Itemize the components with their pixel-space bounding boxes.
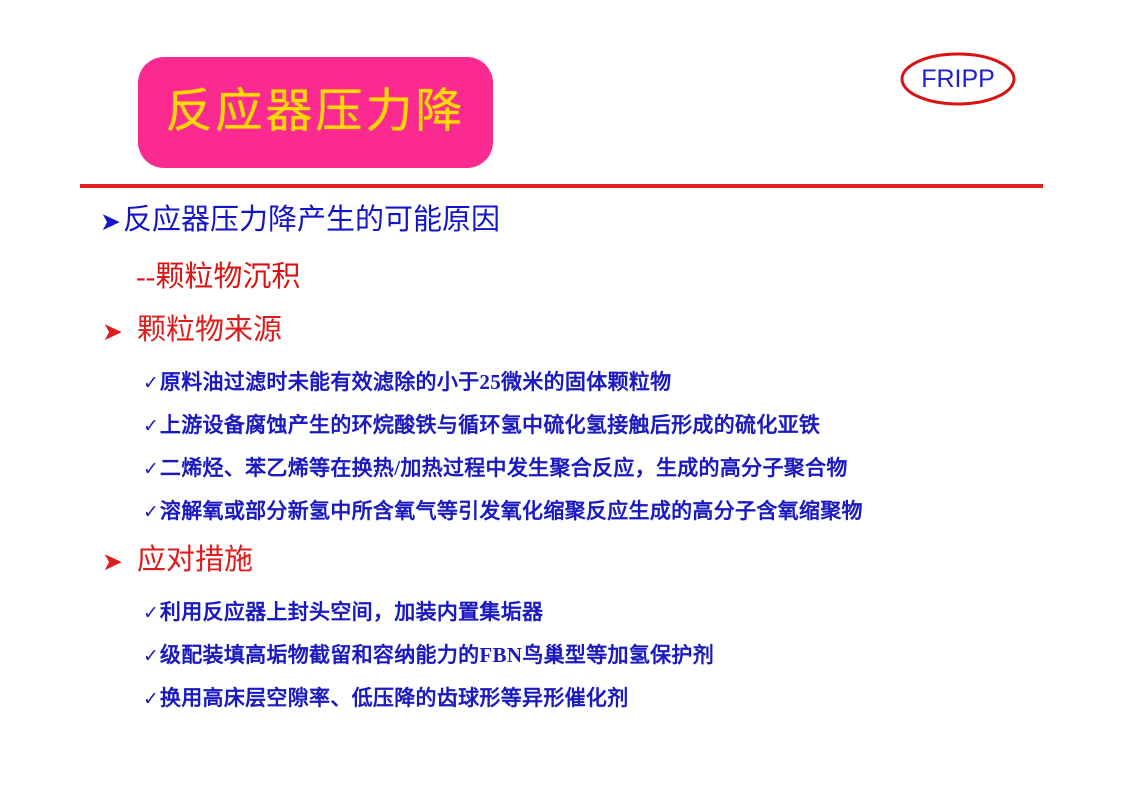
list-item-label: 换用高床层空隙率、低压降的齿球形等异形催化剂 — [160, 688, 629, 709]
arrow-right-icon: ➤ — [102, 319, 123, 344]
check-icon: ✓ — [143, 604, 159, 623]
list-item: ✓ 利用反应器上封头空间，加装内置集垢器 — [143, 602, 714, 645]
check-icon: ✓ — [143, 374, 159, 393]
bullet-particle-source: ➤ 颗粒物来源 — [102, 316, 282, 345]
bullet-particle-source-label: 颗粒物来源 — [137, 316, 282, 345]
list-item-label: 利用反应器上封头空间，加装内置集垢器 — [160, 602, 543, 623]
bullet-causes-label: 反应器压力降产生的可能原因 — [123, 206, 500, 235]
list-item: ✓ 溶解氧或部分新氢中所含氧气等引发氧化缩聚反应生成的高分子含氧缩聚物 — [143, 501, 863, 544]
arrow-right-icon: ➤ — [100, 209, 121, 234]
list-item-label: 原料油过滤时未能有效滤除的小于25微米的固体颗粒物 — [160, 372, 672, 393]
sub-note-sediment-label: --颗粒物沉积 — [136, 261, 300, 293]
ellipse-icon — [898, 49, 1018, 109]
bullet-causes: ➤ 反应器压力降产生的可能原因 — [100, 206, 500, 235]
check-icon: ✓ — [143, 417, 159, 436]
page-title: 反应器压力降 — [166, 89, 466, 136]
horizontal-divider — [80, 184, 1043, 188]
bullet-countermeasures: ➤ 应对措施 — [102, 546, 253, 575]
list-item-label: 上游设备腐蚀产生的环烷酸铁与循环氢中硫化氢接触后形成的硫化亚铁 — [160, 415, 820, 436]
check-icon: ✓ — [143, 460, 159, 479]
list-item: ✓ 二烯烃、苯乙烯等在换热/加热过程中发生聚合反应，生成的高分子聚合物 — [143, 458, 863, 501]
list-item: ✓ 级配装填高垢物截留和容纳能力的FBN鸟巢型等加氢保护剂 — [143, 645, 714, 688]
list-particle-source: ✓ 原料油过滤时未能有效滤除的小于25微米的固体颗粒物 ✓ 上游设备腐蚀产生的环… — [143, 372, 863, 544]
slide-canvas: 反应器压力降 FRIPP ➤ 反应器压力降产生的可能原因 --颗粒物沉积 ➤ 颗… — [0, 0, 1122, 793]
fripp-logo: FRIPP — [898, 49, 1018, 109]
check-icon: ✓ — [143, 690, 159, 709]
list-countermeasures: ✓ 利用反应器上封头空间，加装内置集垢器 ✓ 级配装填高垢物截留和容纳能力的FB… — [143, 602, 714, 731]
list-item: ✓ 上游设备腐蚀产生的环烷酸铁与循环氢中硫化氢接触后形成的硫化亚铁 — [143, 415, 863, 458]
list-item: ✓ 换用高床层空隙率、低压降的齿球形等异形催化剂 — [143, 688, 714, 731]
arrow-right-icon: ➤ — [102, 549, 123, 574]
bullet-countermeasures-label: 应对措施 — [137, 546, 253, 575]
check-icon: ✓ — [143, 503, 159, 522]
list-item-label: 溶解氧或部分新氢中所含氧气等引发氧化缩聚反应生成的高分子含氧缩聚物 — [160, 501, 863, 522]
list-item-label: 二烯烃、苯乙烯等在换热/加热过程中发生聚合反应，生成的高分子聚合物 — [160, 458, 848, 479]
sub-note-sediment: --颗粒物沉积 — [136, 263, 300, 292]
slide-title-box: 反应器压力降 — [138, 57, 493, 168]
list-item-label: 级配装填高垢物截留和容纳能力的FBN鸟巢型等加氢保护剂 — [160, 645, 714, 666]
check-icon: ✓ — [143, 647, 159, 666]
list-item: ✓ 原料油过滤时未能有效滤除的小于25微米的固体颗粒物 — [143, 372, 863, 415]
